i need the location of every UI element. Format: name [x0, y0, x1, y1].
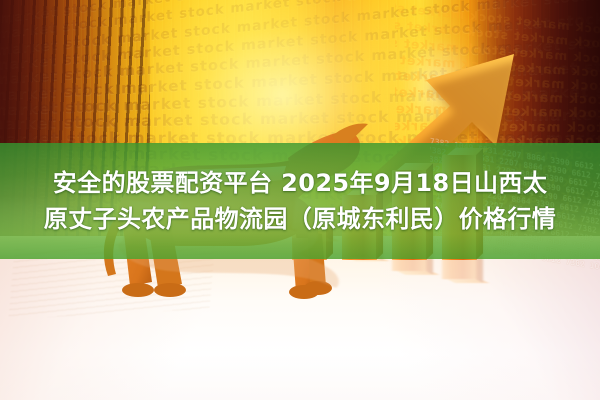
banner-caption: 安全的股票配资平台 2025年9月18日山西太 原丈子头农产品物流园（原城东利民…	[0, 143, 600, 259]
caption-line-1: 安全的股票配资平台 2025年9月18日山西太	[53, 166, 547, 200]
stock-market-banner: stock market stock market stock market s…	[0, 0, 600, 400]
caption-line-2: 原丈子头农产品物流园（原城东利民）价格行情	[44, 202, 556, 236]
